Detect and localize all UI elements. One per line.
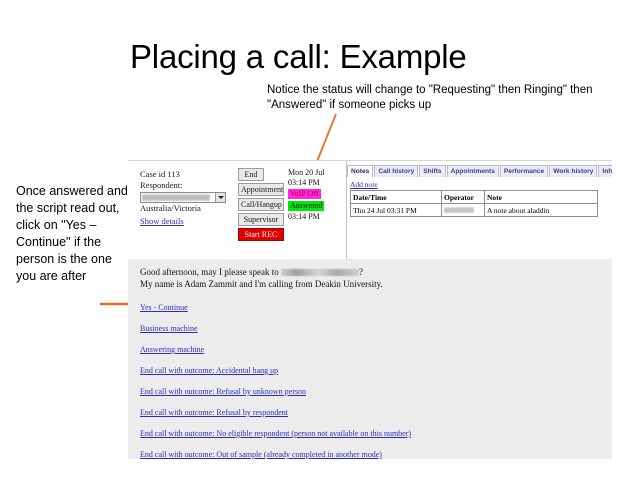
callout-status-note: Notice the status will change to "Reques… [267,83,597,112]
call-state-badge[interactable]: Answered [288,201,324,211]
link-yes-continue[interactable]: Yes - Continue [140,303,188,313]
link-refusal-respondent[interactable]: End call with outcome: Refusal by respon… [140,408,288,418]
appointment-button[interactable]: Appointment [238,183,284,196]
link-refusal-unknown-person[interactable]: End call with outcome: Refusal by unknow… [140,387,306,397]
status-time-bottom: 03:14 PM [288,212,338,222]
greeting-line-2: My name is Adam Zammit and I'm calling f… [140,278,383,290]
greeting-line-1-pre: Good afternoon, may I please speak to [140,267,281,277]
operator-redacted-value [444,207,474,213]
column-header-operator: Operator [442,191,485,204]
end-button[interactable]: End [238,168,264,181]
chevron-down-icon[interactable] [215,193,225,202]
tab-strip: Notes Call history Shifts Appointments P… [347,165,612,177]
start-rec-button[interactable]: Start REC [238,228,284,241]
column-header-datetime: Date/Time [351,191,442,204]
status-date: Mon 20 Jul [288,168,338,178]
supervisor-button[interactable]: Supervisor [238,213,284,226]
region-label: Australia/Victoria [140,203,240,214]
greeting-line-1-post: ? [359,267,363,277]
greeting-line-1: Good afternoon, may I please speak to ? [140,266,383,278]
add-note-link[interactable]: Add note [350,180,378,189]
link-no-eligible-respondent[interactable]: End call with outcome: No eligible respo… [140,429,411,439]
call-status-column: Mon 20 Jul 03:14 PM VoIP Off Answered 03… [288,168,338,222]
tab-work-history[interactable]: Work history [549,165,597,177]
tab-shifts[interactable]: Shifts [419,165,445,177]
respondent-select[interactable] [140,192,226,203]
link-accidental-hang-up[interactable]: End call with outcome: Accidental hang u… [140,366,278,376]
link-answering-machine[interactable]: Answering machine [140,345,204,355]
tab-performance[interactable]: Performance [500,165,548,177]
column-header-note: Note [485,191,598,204]
link-out-of-sample[interactable]: End call with outcome: Out of sample (al… [140,450,382,459]
voip-status-badge[interactable]: VoIP Off [288,189,321,199]
notes-table: Date/Time Operator Note Thu 24 Jul 03:31… [350,190,598,217]
status-time-top: 03:14 PM [288,178,338,188]
call-buttons-group: End Appointment Call/Hangup Supervisor S… [238,168,284,243]
tab-info[interactable]: Info [598,165,612,177]
table-header-row: Date/Time Operator Note [351,191,598,204]
case-id-label: Case id 113 [140,169,240,180]
tab-appointments[interactable]: Appointments [447,165,499,177]
case-info-block: Case id 113 Respondent: Australia/Victor… [140,169,240,227]
call-hangup-button[interactable]: Call/Hangup [238,198,284,211]
script-region: Good afternoon, may I please speak to ? … [128,259,612,459]
link-business-machine[interactable]: Business machine [140,324,198,334]
page-title: Placing a call: Example [130,36,467,78]
table-row[interactable]: Thu 24 Jul 03:31 PM A note about aladdin [351,204,598,217]
respondent-label: Respondent: [140,180,240,191]
respondent-name-redacted [281,269,359,276]
respondent-redacted-value [142,194,210,201]
script-outcome-links: Yes - Continue Business machine Answerin… [140,303,580,459]
show-details-link[interactable]: Show details [140,216,184,227]
embedded-app-screenshot: Case id 113 Respondent: Australia/Victor… [128,160,612,459]
cell-operator [442,204,485,217]
cell-datetime: Thu 24 Jul 03:31 PM [351,204,442,217]
script-greeting: Good afternoon, may I please speak to ? … [140,266,383,290]
cell-note: A note about aladdin [485,204,598,217]
callout-continue-note: Once answered and the script read out, c… [16,183,134,285]
tab-notes[interactable]: Notes [347,165,373,177]
notes-panel: Notes Call history Shifts Appointments P… [346,161,612,259]
call-control-bar: Case id 113 Respondent: Australia/Victor… [128,161,612,259]
tab-call-history[interactable]: Call history [374,165,418,177]
